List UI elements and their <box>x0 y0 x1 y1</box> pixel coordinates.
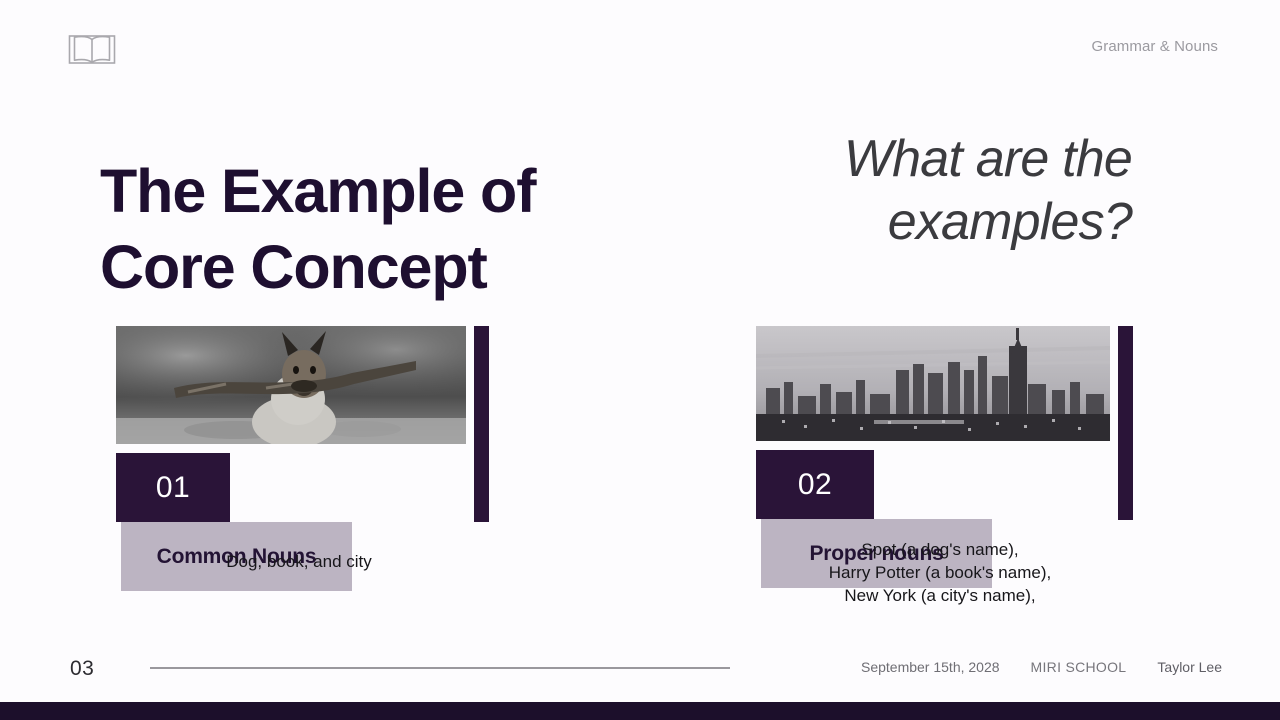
page-number: 03 <box>70 657 94 681</box>
page-title: The Example of Core Concept <box>100 153 660 305</box>
card-2-caption-line-1: Spot (a dog's name), <box>750 538 1130 561</box>
card-1-caption-line-1: Dog, book, and city <box>110 550 488 573</box>
footer-school: MIRI SCHOOL <box>1031 659 1127 675</box>
card-1-caption: Dog, book, and city <box>110 550 488 573</box>
bottom-accent-bar <box>0 702 1280 720</box>
card-2-accent-bar <box>1118 326 1133 520</box>
card-2-number: 02 <box>756 450 874 519</box>
header-topic-label: Grammar & Nouns <box>1091 38 1218 55</box>
question-heading-line-2: examples? <box>700 191 1132 254</box>
card-1-accent-bar <box>474 326 489 522</box>
question-heading-line-1: What are the <box>700 128 1132 191</box>
open-book-icon <box>68 32 116 66</box>
card-1-number: 01 <box>116 453 230 522</box>
slide-canvas: Grammar & Nouns The Example of Core Conc… <box>0 0 1280 720</box>
city-skyline-photo <box>756 326 1110 441</box>
card-2-caption: Spot (a dog's name), Harry Potter (a boo… <box>750 538 1130 607</box>
footer-meta: September 15th, 2028 MIRI SCHOOL Taylor … <box>861 659 1222 675</box>
card-2-caption-line-2: Harry Potter (a book's name), <box>750 561 1130 584</box>
footer-date: September 15th, 2028 <box>861 659 1000 675</box>
footer-presenter: Taylor Lee <box>1157 659 1222 675</box>
card-2-caption-line-3: New York (a city's name), <box>750 584 1130 607</box>
question-heading: What are the examples? <box>700 128 1260 254</box>
dog-with-stick-photo <box>116 326 466 444</box>
footer-divider <box>150 667 730 669</box>
page-title-line-2: Core Concept <box>100 229 660 305</box>
page-title-line-1: The Example of <box>100 153 660 229</box>
